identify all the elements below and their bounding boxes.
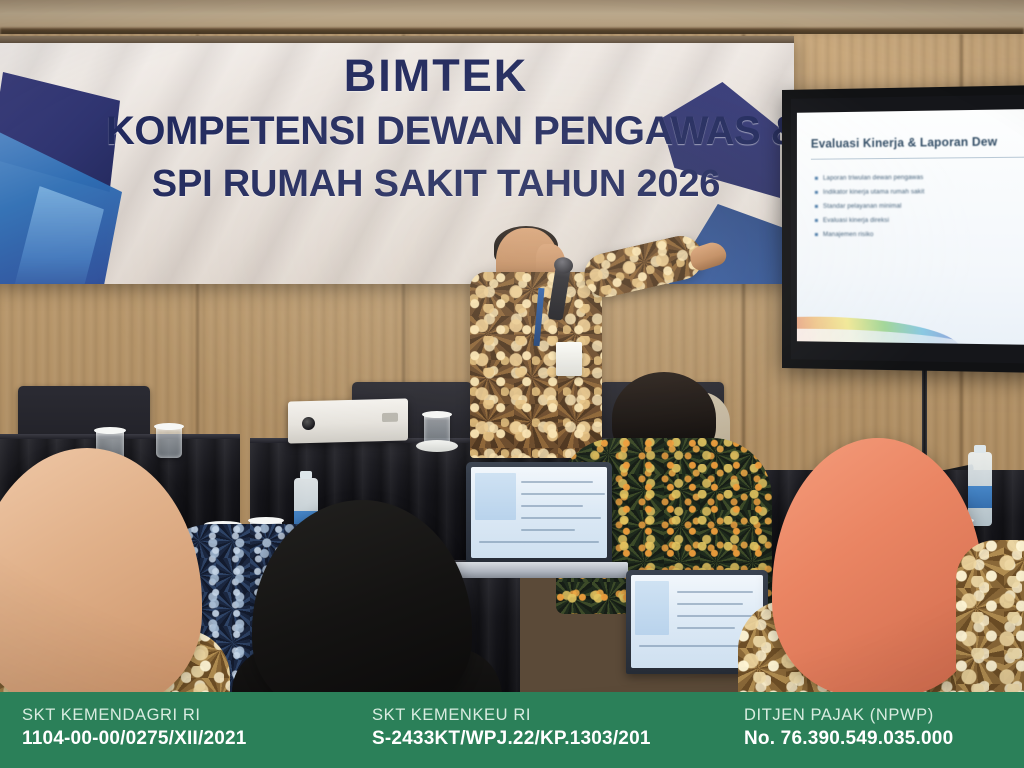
laptop-screen-text-line: [521, 481, 593, 483]
glass-lid: [422, 411, 452, 418]
projector-screen: Evaluasi Kinerja & Laporan Dew Laporan t…: [782, 85, 1024, 373]
banner-line-2: KOMPETENSI DEWAN PENGAWAS &: [106, 104, 766, 158]
presenter-name-badge: [556, 342, 582, 376]
photo-canvas: BIMTEK KOMPETENSI DEWAN PENGAWAS & SPI R…: [0, 0, 1024, 768]
slide-bullet: Evaluasi kinerja direksi: [815, 217, 1024, 224]
slide-bullet: Laporan triwulan dewan pengawas: [815, 173, 1024, 182]
slide-divider: [811, 157, 1024, 160]
slide-title: Evaluasi Kinerja & Laporan Dew: [811, 136, 997, 150]
bullet-dot-icon: [815, 177, 818, 180]
banner-line-3: SPI RUMAH SAKIT TAHUN 2026: [106, 158, 766, 210]
footer-label: DITJEN PAJAK (NPWP): [744, 704, 1024, 726]
presentation-slide: Evaluasi Kinerja & Laporan Dew Laporan t…: [797, 109, 1024, 345]
slide-bullet-text: Manajemen risiko: [823, 231, 874, 238]
bottle-label: [968, 486, 992, 508]
bullet-dot-icon: [815, 205, 818, 208]
glass-lid: [248, 517, 284, 524]
laptop-screen[interactable]: [471, 467, 607, 558]
projector-lens-icon: [302, 417, 315, 430]
laptop-screen-text-line: [521, 529, 575, 531]
laptop-screen-text-line: [677, 615, 757, 617]
laptop-screen-text-line: [479, 541, 599, 543]
banner-headline: BIMTEK KOMPETENSI DEWAN PENGAWAS & SPI R…: [106, 48, 766, 210]
slide-bullet: Manajemen risiko: [815, 231, 1024, 238]
footer-label: SKT KEMENDAGRI RI: [22, 704, 372, 726]
laptop-screen-panel: [475, 473, 516, 520]
slide-bullet-text: Indikator kinerja utama rumah sakit: [823, 188, 925, 196]
footer-column-kemendagri: SKT KEMENDAGRI RI 1104-00-00/0275/XII/20…: [22, 704, 372, 752]
laptop-screen-text-line: [677, 591, 753, 593]
bullet-dot-icon: [815, 191, 818, 194]
laptop-base[interactable]: [452, 562, 628, 578]
laptop-screen-text-line: [521, 493, 605, 495]
saucer: [416, 440, 458, 452]
footer-value: No. 76.390.549.035.000: [744, 726, 1024, 752]
bottle-cap: [974, 445, 986, 453]
laptop-screen-panel: [635, 581, 669, 635]
footer-column-ditjen-pajak: DITJEN PAJAK (NPWP) No. 76.390.549.035.0…: [744, 704, 1024, 752]
slide-bullet-text: Laporan triwulan dewan pengawas: [823, 174, 923, 182]
slide-bullet-text: Evaluasi kinerja direksi: [823, 217, 889, 224]
laptop-lid: [466, 462, 612, 564]
slide-bullet-text: Standar pelayanan minimal: [823, 203, 902, 210]
laptop-screen-text-line: [521, 505, 583, 507]
presenter-body: [470, 272, 602, 458]
slide-bullet-list: Laporan triwulan dewan pengawas Indikato…: [815, 173, 1024, 246]
water-bottle: [968, 452, 992, 526]
glass-lid: [94, 427, 126, 434]
laptop-screen-text-line: [677, 603, 743, 605]
banner-top-rail: [0, 36, 794, 43]
footer-value: S-2433KT/WPJ.22/KP.1303/201: [372, 726, 744, 752]
laptop-screen-text-line: [521, 517, 601, 519]
slide-bullet: Standar pelayanan minimal: [815, 202, 1024, 210]
laptop-screen-text-line: [677, 627, 735, 629]
bullet-dot-icon: [815, 219, 818, 222]
footer-column-kemenkeu: SKT KEMENKEU RI S-2433KT/WPJ.22/KP.1303/…: [372, 704, 744, 752]
footer-label: SKT KEMENKEU RI: [372, 704, 744, 726]
banner-line-1: BIMTEK: [106, 48, 766, 104]
glass-lid: [154, 423, 184, 430]
projector-vent: [382, 413, 398, 422]
bullet-dot-icon: [815, 233, 818, 236]
drinking-glass: [156, 426, 182, 458]
bottle-cap: [300, 471, 312, 479]
slide-bullet: Indikator kinerja utama rumah sakit: [815, 188, 1024, 196]
footer-value: 1104-00-00/0275/XII/2021: [22, 726, 372, 752]
credentials-footer-bar: SKT KEMENDAGRI RI 1104-00-00/0275/XII/20…: [0, 692, 1024, 768]
ceiling-projector-device: [288, 398, 408, 443]
